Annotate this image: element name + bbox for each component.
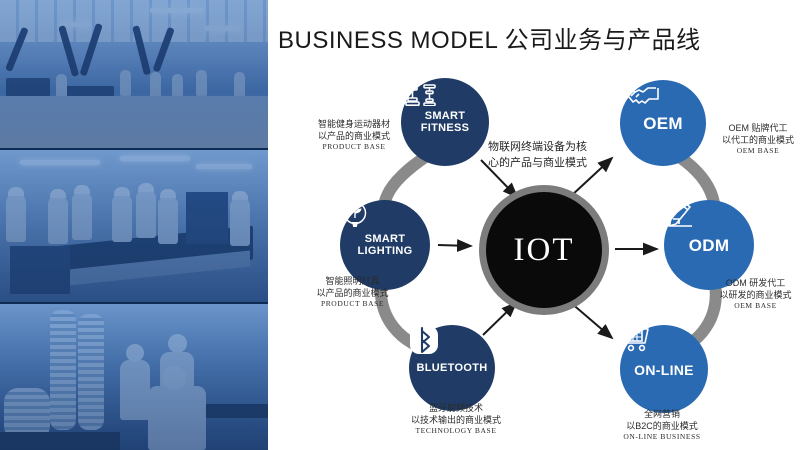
node-online[interactable]: ON-LINE [620,325,708,413]
assembly-line-scene [0,150,268,302]
caption-odm: ODM 研发代工 以研发的商业模式 OEM BASE [711,277,800,311]
caption-oem: OEM 贴牌代工 以代工的商业模式 OEM BASE [716,122,800,156]
slide-canvas: BUSINESS MODEL 公司业务与产品线 [0,0,800,450]
node-label-line2: FITNESS [421,122,470,134]
photo-strip [0,0,268,450]
caption-online: 全网营销 以B2C的商业模式 ON-LINE BUSINESS [602,408,722,442]
node-label: OEM [643,115,683,133]
node-smart-fitness[interactable]: SMART FITNESS [401,78,489,166]
caption-iot-hub: 物联网终端设备为核 心的产品与商业模式 [488,140,608,172]
iot-hub-node[interactable]: IOT [479,185,609,315]
caption-bluetooth: 蓝牙射频技术 以技术输出的商业模式 TECHNOLOGY BASE [386,402,526,436]
caption-smart-fitness: 智能健身运动器材 以产品的商业模式 PRODUCT BASE [294,118,414,152]
node-bluetooth[interactable]: BLUETOOTH [409,325,495,411]
node-label-line1: SMART [365,233,406,245]
node-label: ODM [689,237,730,255]
photo-assembly-line-workers [0,150,268,302]
caption-smart-lighting: 智能照明灯具 以产品的商业模式 PRODUCT BASE [290,275,415,309]
node-label-line1: SMART [425,110,466,122]
business-model-diagram: IOT SMART FITNESS [268,0,800,450]
iot-hub-label: IOT [514,232,575,269]
node-label-line2: LIGHTING [358,245,413,257]
node-label-line1: BLUETOOTH [417,362,488,374]
photo-factory-production-hall [0,0,268,148]
photo-workshop-engineers [0,304,268,450]
node-oem[interactable]: OEM [620,80,706,166]
node-label: ON-LINE [634,363,694,378]
factory-hall-scene [0,0,268,148]
workshop-scene [0,304,268,450]
